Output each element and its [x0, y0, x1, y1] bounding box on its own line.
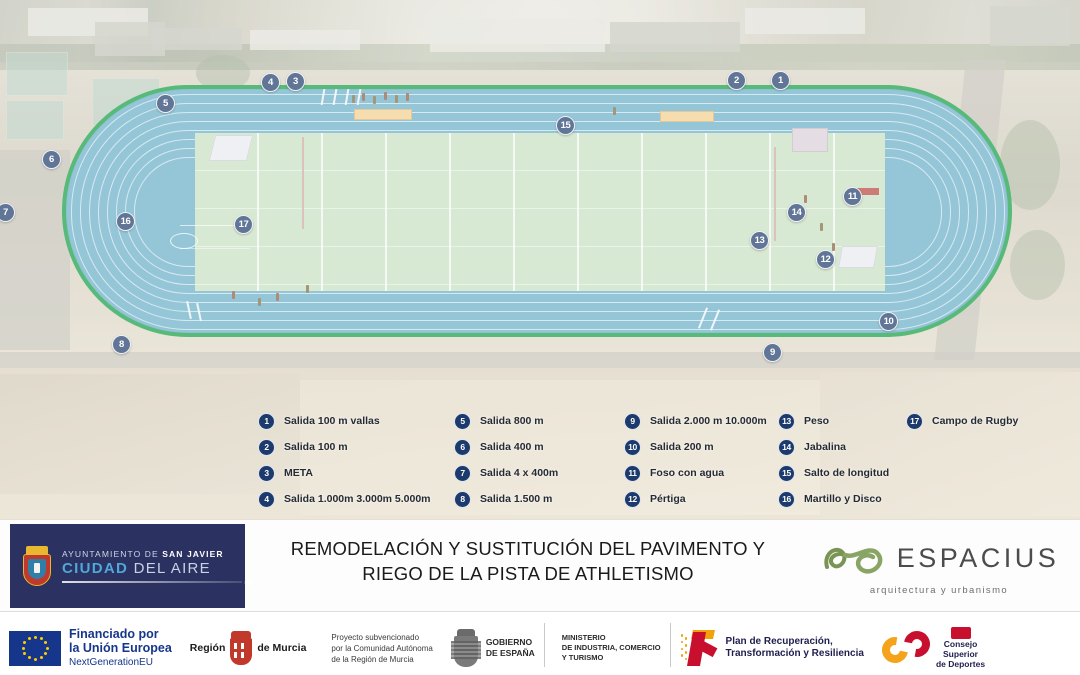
lane-line-3 — [89, 112, 987, 312]
eu-funding-text: Financiado por la Unión Europea NextGene… — [69, 627, 172, 670]
athletics-track — [62, 85, 1012, 337]
prtr-logo: Plan de Recuperación, Transformación y R… — [671, 621, 873, 675]
building-block-g — [250, 30, 360, 50]
legend-number-badge: 5 — [454, 413, 471, 430]
csd-crown-icon — [951, 627, 971, 639]
legend-number-badge: 14 — [778, 439, 795, 456]
legend-item-10[interactable]: 10Salida 200 m — [624, 434, 767, 460]
tennis-court-c — [92, 78, 160, 126]
lane-line-2 — [80, 103, 996, 321]
athlete-figure — [276, 293, 279, 301]
region-murcia-logo: Región de Murcia — [181, 621, 316, 675]
legend-column-5: 17Campo de Rugby — [906, 408, 1018, 434]
start-line-a — [321, 89, 326, 105]
legend-number-badge: 17 — [906, 413, 923, 430]
legend-number-badge: 1 — [258, 413, 275, 430]
legend-item-16[interactable]: 16Martillo y Disco — [778, 486, 889, 512]
athlete-figure — [613, 107, 616, 115]
espacius-swirl-icon — [819, 537, 895, 581]
high-jump-mat — [209, 135, 253, 161]
hammer-discus-circle — [170, 233, 198, 249]
eu-line-3: NextGenerationEU — [69, 656, 172, 670]
athlete-figure — [804, 195, 807, 203]
track-oval-surface — [62, 85, 1012, 337]
athlete-figure — [306, 285, 309, 293]
coat-of-arms-icon — [22, 546, 52, 586]
legend-label: Salida 400 m — [480, 441, 544, 453]
subvencion-line-1: Proyecto subvencionado — [331, 632, 432, 643]
athlete-figure — [820, 223, 823, 231]
tennis-court-a — [6, 52, 68, 96]
plane-underline-icon: ✈ — [62, 581, 242, 583]
start-line-b — [333, 89, 338, 105]
spain-crest-icon — [451, 629, 481, 667]
gobierno-text: GOBIERNO DE ESPAÑA — [486, 637, 535, 659]
ministerio-line-2: DE INDUSTRIA, COMERCIO — [562, 643, 661, 653]
map-marker-2[interactable]: 2 — [727, 71, 746, 90]
athlete-figure — [373, 96, 376, 104]
lane-line-8 — [134, 157, 942, 267]
vegetation-east — [1000, 120, 1060, 210]
building-warehouse-a — [430, 18, 605, 52]
legend-label: Salida 2.000 m 10.000m — [650, 415, 767, 427]
start-line-h — [710, 309, 720, 330]
map-marker-11[interactable]: 11 — [843, 187, 862, 206]
track-lane-group — [62, 85, 1012, 337]
csd-text-block: Consejo Superior de Deportes — [936, 627, 985, 669]
tennis-court-b — [6, 100, 64, 140]
map-marker-14[interactable]: 14 — [787, 203, 806, 222]
map-marker-4[interactable]: 4 — [261, 73, 280, 92]
map-marker-9[interactable]: 9 — [763, 343, 782, 362]
legend-number-badge: 8 — [454, 491, 471, 508]
lane-line-7 — [125, 148, 951, 276]
legend-number-badge: 7 — [454, 465, 471, 482]
legend-number-badge: 4 — [258, 491, 275, 508]
athlete-figure — [395, 95, 398, 103]
eu-funding-logo: Financiado por la Unión Europea NextGene… — [0, 621, 181, 675]
legend-label: Salida 800 m — [480, 415, 544, 427]
map-marker-6[interactable]: 6 — [42, 150, 61, 169]
start-line-c — [345, 89, 350, 105]
map-marker-15[interactable]: 15 — [556, 116, 575, 135]
gobierno-line-2: DE ESPAÑA — [486, 648, 535, 659]
legend-label: Martillo y Disco — [804, 493, 882, 505]
pole-vault-landing-mat — [792, 128, 828, 152]
lane-line-6 — [116, 139, 960, 285]
legend-item-15[interactable]: 15Salto de longitud — [778, 460, 889, 486]
eu-line-1: Financiado por — [69, 627, 172, 641]
map-marker-1[interactable]: 1 — [771, 71, 790, 90]
prtr-mark-icon — [680, 628, 720, 668]
building-warehouse-b — [610, 22, 740, 52]
funders-strip: Financiado por la Unión Europea NextGene… — [0, 611, 1080, 675]
legend-item-1[interactable]: 1Salida 100 m vallas — [258, 408, 431, 434]
legend-item-6[interactable]: 6Salida 400 m — [454, 434, 558, 460]
legend-label: META — [284, 467, 313, 479]
municipality-line2: CIUDAD DEL AIRE — [62, 560, 242, 577]
subvencion-line-2: por la Comunidad Autónoma — [331, 643, 432, 654]
goalpost-west — [302, 137, 304, 229]
legend-item-13[interactable]: 13Peso — [778, 408, 889, 434]
prtr-line-2: Transformación y Resiliencia — [726, 648, 864, 660]
map-marker-10[interactable]: 10 — [879, 312, 898, 331]
map-marker-16[interactable]: 16 — [116, 212, 135, 231]
legend-item-17[interactable]: 17Campo de Rugby — [906, 408, 1018, 434]
murcia-suffix: de Murcia — [257, 642, 306, 654]
legend-item-11[interactable]: 11Foso con agua — [624, 460, 767, 486]
vegetation-southeast — [1010, 230, 1065, 300]
legend: 1Salida 100 m vallas2Salida 100 m3META4S… — [258, 408, 1068, 518]
map-marker-3[interactable]: 3 — [286, 72, 305, 91]
hammer-sector-lines — [180, 225, 250, 249]
airplane-icon: ✈ — [244, 576, 254, 590]
murcia-crest-icon — [229, 631, 253, 665]
athlete-figure — [406, 93, 409, 101]
gobierno-espana-logo: GOBIERNO DE ESPAÑA — [442, 621, 544, 675]
building-block-e — [28, 8, 148, 36]
legend-label: Peso — [804, 415, 829, 427]
legend-label: Salida 100 m vallas — [284, 415, 380, 427]
athlete-figure — [362, 93, 365, 101]
map-marker-17[interactable]: 17 — [234, 215, 253, 234]
legend-label: Salida 4 x 400m — [480, 467, 558, 479]
legend-label: Pértiga — [650, 493, 686, 505]
start-line-e — [186, 301, 192, 319]
espacius-logo: ESPACIUS arquitectura y urbanismo — [808, 526, 1070, 606]
goalpost-east — [774, 147, 776, 241]
lane-line-5 — [107, 130, 969, 294]
vegetation-north — [196, 55, 250, 91]
legend-column-4: 13Peso14Jabalina15Salto de longitud16Mar… — [778, 408, 889, 512]
long-jump-pit-west — [354, 109, 412, 120]
csd-line-1: Consejo — [936, 639, 985, 649]
legend-item-2[interactable]: 2Salida 100 m — [258, 434, 431, 460]
lane-line-4 — [98, 121, 978, 303]
ministerio-line-1: MINISTERIO — [562, 633, 661, 643]
water-jump-barrier — [855, 188, 879, 195]
legend-item-5[interactable]: 5Salida 800 m — [454, 408, 558, 434]
start-line-f — [196, 303, 202, 321]
espacius-tagline: arquitectura y urbanismo — [870, 585, 1008, 596]
road-east — [934, 60, 1006, 360]
subvencion-note: Proyecto subvencionado por la Comunidad … — [315, 621, 441, 675]
building-club-house — [95, 22, 165, 56]
title-line-1: REMODELACIÓN Y SUSTITUCIÓN DEL PAVIMENTO… — [258, 536, 798, 561]
legend-column-3: 9Salida 2.000 m 10.000m10Salida 200 m11F… — [624, 408, 767, 512]
legend-label: Jabalina — [804, 441, 846, 453]
csd-text: Consejo Superior de Deportes — [936, 639, 985, 669]
eu-line-2: la Unión Europea — [69, 641, 172, 655]
legend-item-4[interactable]: 4Salida 1.000m 3.000m 5.000m — [258, 486, 431, 512]
legend-label: Salida 200 m — [650, 441, 714, 453]
legend-number-badge: 11 — [624, 465, 641, 482]
page-title: REMODELACIÓN Y SUSTITUCIÓN DEL PAVIMENTO… — [258, 536, 798, 586]
map-marker-13[interactable]: 13 — [750, 231, 769, 250]
athlete-figure — [832, 243, 835, 251]
legend-item-3[interactable]: 3META — [258, 460, 431, 486]
murcia-prefix: Región — [190, 642, 226, 654]
building-warehouse-c — [745, 8, 865, 34]
map-marker-7[interactable]: 7 — [0, 203, 15, 222]
espacius-name: ESPACIUS — [897, 543, 1060, 574]
legend-column-2: 5Salida 800 m6Salida 400 m7Salida 4 x 40… — [454, 408, 558, 512]
title-line-2: RIEGO DE LA PISTA DE ATHLETISMO — [258, 561, 798, 586]
shot-put-mat — [838, 246, 878, 268]
eu-flag-icon — [9, 631, 61, 666]
poster-root: 1234567891011121314151617 1Salida 100 m … — [0, 0, 1080, 675]
lane-line-1 — [71, 94, 1005, 330]
long-jump-pit-east — [660, 111, 714, 122]
legend-number-badge: 16 — [778, 491, 795, 508]
map-marker-5[interactable]: 5 — [156, 94, 175, 113]
ministerio-logo: MINISTERIO DE INDUSTRIA, COMERCIO Y TURI… — [545, 621, 670, 675]
legend-number-badge: 3 — [258, 465, 275, 482]
tree-line-band — [0, 44, 1080, 70]
map-marker-8[interactable]: 8 — [112, 335, 131, 354]
athlete-figure — [352, 95, 355, 103]
legend-item-8[interactable]: 8Salida 1.500 m — [454, 486, 558, 512]
legend-label: Salida 1.500 m — [480, 493, 552, 505]
legend-number-badge: 10 — [624, 439, 641, 456]
title-banner: AYUNTAMIENTO DE SAN JAVIER CIUDAD DEL AI… — [0, 519, 1080, 612]
ministerio-line-3: Y TURISMO — [562, 653, 661, 663]
road-west — [0, 150, 70, 350]
athlete-figure — [384, 92, 387, 100]
legend-number-badge: 13 — [778, 413, 795, 430]
start-line-g — [698, 307, 708, 328]
legend-label: Salto de longitud — [804, 467, 889, 479]
legend-number-badge: 15 — [778, 465, 795, 482]
legend-number-badge: 9 — [624, 413, 641, 430]
prtr-text: Plan de Recuperación, Transformación y R… — [726, 636, 864, 660]
legend-label: Foso con agua — [650, 467, 724, 479]
building-block-d — [990, 6, 1070, 46]
subvencion-line-3: de la Región de Murcia — [331, 654, 432, 665]
prtr-line-1: Plan de Recuperación, — [726, 636, 864, 648]
legend-item-7[interactable]: 7Salida 4 x 400m — [454, 460, 558, 486]
legend-label: Salida 100 m — [284, 441, 348, 453]
rugby-infield — [195, 133, 885, 291]
legend-item-14[interactable]: 14Jabalina — [778, 434, 889, 460]
athlete-figure — [232, 291, 235, 299]
municipality-logo: AYUNTAMIENTO DE SAN JAVIER CIUDAD DEL AI… — [10, 524, 245, 608]
csd-logo: Consejo Superior de Deportes — [873, 621, 994, 675]
legend-item-12[interactable]: 12Pértiga — [624, 486, 767, 512]
building-block-f — [152, 28, 242, 50]
gobierno-line-1: GOBIERNO — [486, 637, 535, 648]
municipality-line1: AYUNTAMIENTO DE SAN JAVIER — [62, 549, 242, 559]
municipality-wordmark: AYUNTAMIENTO DE SAN JAVIER CIUDAD DEL AI… — [62, 549, 242, 583]
legend-column-1: 1Salida 100 m vallas2Salida 100 m3META4S… — [258, 408, 431, 512]
legend-number-badge: 12 — [624, 491, 641, 508]
map-marker-12[interactable]: 12 — [816, 250, 835, 269]
csd-mark-icon — [882, 629, 936, 667]
legend-number-badge: 6 — [454, 439, 471, 456]
csd-line-2: Superior — [936, 649, 985, 659]
legend-label: Salida 1.000m 3.000m 5.000m — [284, 493, 431, 505]
legend-label: Campo de Rugby — [932, 415, 1018, 427]
csd-line-3: de Deportes — [936, 659, 985, 669]
urban-band — [0, 0, 1080, 62]
road-south — [0, 352, 1080, 368]
legend-item-9[interactable]: 9Salida 2.000 m 10.000m — [624, 408, 767, 434]
dirt-plot-left — [0, 374, 300, 494]
legend-number-badge: 2 — [258, 439, 275, 456]
start-line-d — [357, 89, 362, 105]
ministerio-text: MINISTERIO DE INDUSTRIA, COMERCIO Y TURI… — [562, 633, 661, 663]
athlete-figure — [258, 298, 261, 306]
